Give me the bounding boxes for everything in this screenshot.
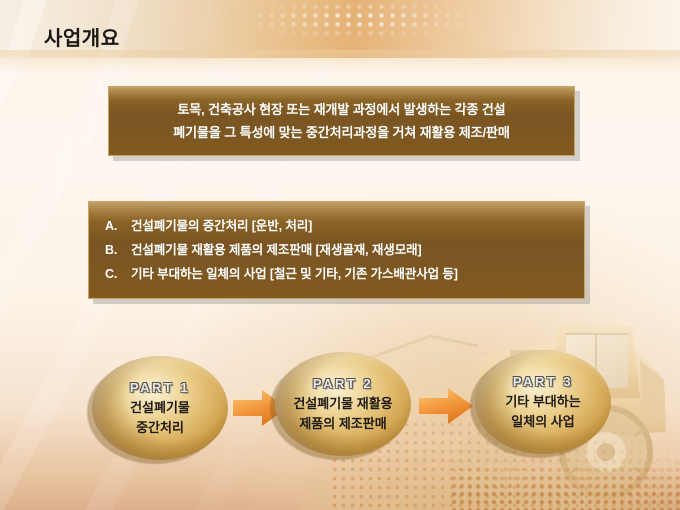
scope-list-panel: A. 건설폐기물의 중간처리 [운반, 처리] B. 건설폐기물 재활용 제품의… — [88, 201, 585, 299]
list-item: B. 건설폐기물 재활용 제품의 제조판매 [재생골재, 재생모래] — [105, 238, 584, 262]
list-item-marker: C. — [105, 262, 131, 286]
header-fade — [0, 50, 680, 72]
list-item-marker: B. — [105, 238, 131, 262]
page-title: 사업개요 — [44, 22, 120, 51]
flow-arrow-2-to-3 — [418, 386, 474, 426]
flow-node-tag: PART 1 — [130, 380, 190, 395]
summary-line-1: 토목, 건축공사 현장 또는 재개발 과정에서 발생하는 각종 건설 — [109, 98, 574, 121]
list-item: C. 기타 부대하는 일체의 사업 [철근 및 기타, 기존 가스배관사업 등] — [105, 262, 584, 286]
presentation-slide: 사업개요 토목, 건축공사 현장 또는 재개발 과정에서 발생하는 각종 건설 … — [0, 0, 680, 510]
flow-node-line-1: 건설폐기물 재활용 — [293, 394, 392, 413]
flow-node-line-1: 기타 부대하는 — [505, 392, 580, 411]
halftone-dot-pattern-dense — [450, 458, 680, 510]
flow-node-part-3: PART 3 기타 부대하는 일체의 사업 — [475, 350, 611, 454]
flow-node-line-2: 제품의 제조판매 — [299, 414, 386, 433]
flow-node-tag: PART 3 — [513, 374, 573, 389]
flow-node-line-1: 건설폐기물 — [130, 398, 190, 417]
flow-node-tag: PART 2 — [313, 376, 373, 391]
flow-node-line-2: 일체의 사업 — [511, 412, 574, 431]
header-dot-pattern — [255, 2, 485, 36]
summary-panel: 토목, 건축공사 현장 또는 재개발 과정에서 발생하는 각종 건설 폐기물을 … — [108, 86, 575, 156]
summary-line-2: 폐기물을 그 특성에 맞는 중간처리과정을 거쳐 재활용 제조/판매 — [109, 121, 574, 144]
list-item-label: 기타 부대하는 일체의 사업 [철근 및 기타, 기존 가스배관사업 등] — [131, 262, 458, 286]
list-item: A. 건설폐기물의 중간처리 [운반, 처리] — [105, 214, 584, 238]
flow-node-part-2: PART 2 건설폐기물 재활용 제품의 제조판매 — [275, 352, 411, 456]
list-item-label: 건설폐기물 재활용 제품의 제조판매 [재생골재, 재생모래] — [131, 238, 422, 262]
flow-node-part-1: PART 1 건설폐기물 중간처리 — [92, 356, 228, 460]
flow-node-line-2: 중간처리 — [136, 418, 184, 437]
list-item-marker: A. — [105, 214, 131, 238]
list-item-label: 건설폐기물의 중간처리 [운반, 처리] — [131, 214, 312, 238]
